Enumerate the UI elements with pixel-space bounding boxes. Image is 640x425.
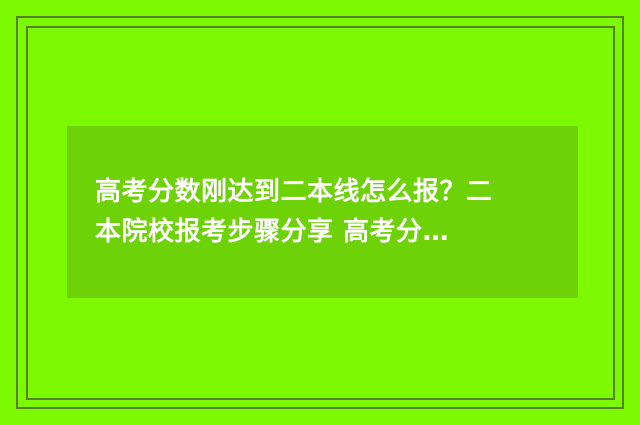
headline-text: 高考分数刚达到二本线怎么报？二 本院校报考步骤分享 高考分… xyxy=(95,172,493,252)
thumbnail-card: 高考分数刚达到二本线怎么报？二 本院校报考步骤分享 高考分… xyxy=(0,0,640,425)
headline-line-1: 高考分数刚达到二本线怎么报？二 xyxy=(95,172,493,212)
headline-panel: 高考分数刚达到二本线怎么报？二 本院校报考步骤分享 高考分… xyxy=(67,126,578,298)
headline-line-2: 本院校报考步骤分享 高考分… xyxy=(95,212,493,252)
